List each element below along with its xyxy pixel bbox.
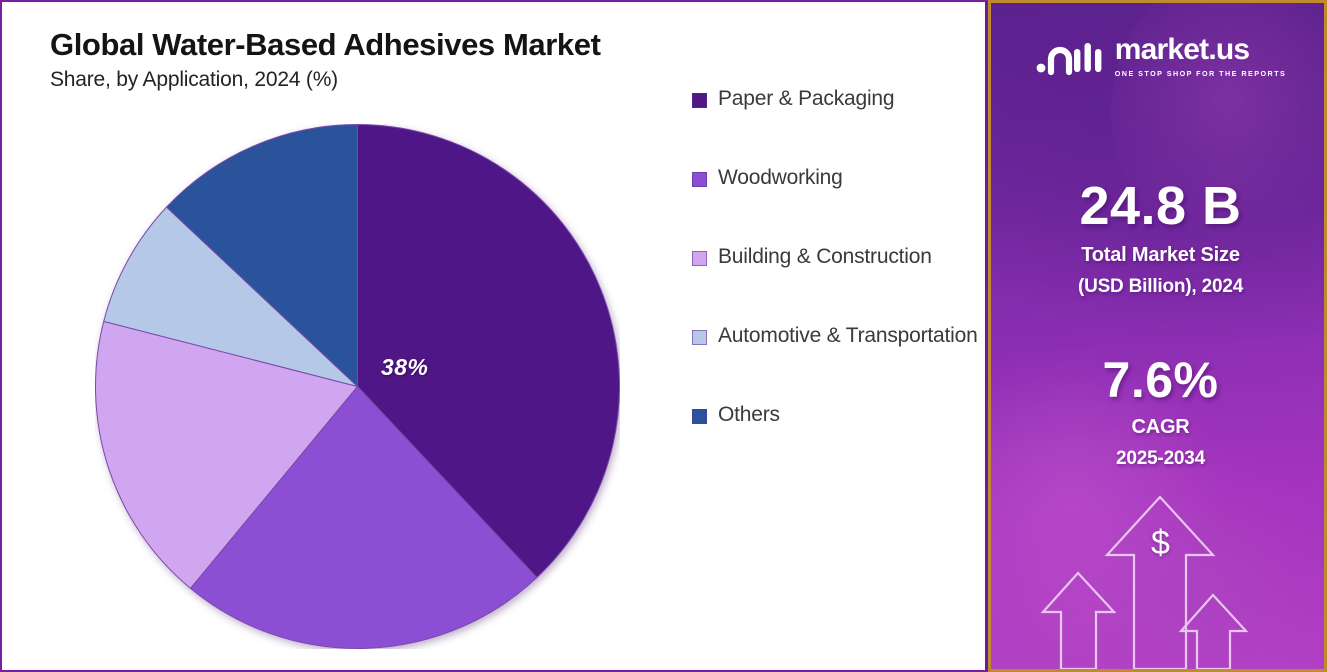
- pie-slices-group: [95, 125, 619, 649]
- pie-chart: 38%: [95, 124, 620, 649]
- brand-tagline: ONE STOP SHOP FOR THE REPORTS: [1115, 69, 1286, 78]
- legend-item-label: Paper & Packaging: [718, 86, 894, 113]
- stat-value: 24.8 B: [991, 179, 1327, 233]
- stat-cagr: 7.6% CAGR 2025-2034: [991, 355, 1327, 471]
- stat-total-market-size: 24.8 B Total Market Size (USD Billion), …: [991, 179, 1327, 299]
- chart-panel: Global Water-Based Adhesives Market Shar…: [0, 0, 988, 672]
- infographic-root: Global Water-Based Adhesives Market Shar…: [0, 0, 1327, 672]
- brand-name: market.us: [1115, 35, 1250, 65]
- legend-swatch-icon: [692, 409, 707, 424]
- growth-arrows-icon: [991, 489, 1327, 669]
- brand-logo[interactable]: market.us ONE STOP SHOP FOR THE REPORTS: [991, 33, 1327, 79]
- summary-panel: market.us ONE STOP SHOP FOR THE REPORTS …: [988, 0, 1327, 672]
- chart-legend: Paper & Packaging Woodworking Building &…: [692, 86, 982, 480]
- stat-caption-line2: (USD Billion), 2024: [991, 275, 1327, 298]
- legend-item-label: Automotive & Transportation: [718, 323, 978, 350]
- dollar-sign-icon: $: [991, 524, 1327, 563]
- brand-text: market.us ONE STOP SHOP FOR THE REPORTS: [1115, 35, 1286, 78]
- legend-item-paper-packaging[interactable]: Paper & Packaging: [692, 86, 982, 113]
- title-block: Global Water-Based Adhesives Market Shar…: [50, 28, 690, 92]
- legend-item-label: Woodworking: [718, 165, 843, 192]
- legend-swatch-icon: [692, 330, 707, 345]
- stat-caption-line1: CAGR: [991, 415, 1327, 439]
- legend-swatch-icon: [692, 93, 707, 108]
- legend-item-woodworking[interactable]: Woodworking: [692, 165, 982, 192]
- legend-item-label: Others: [718, 402, 780, 429]
- pie-chart-svg: [95, 124, 620, 649]
- page-subtitle: Share, by Application, 2024 (%): [50, 68, 690, 92]
- legend-item-label: Building & Construction: [718, 244, 932, 271]
- legend-item-others[interactable]: Others: [692, 402, 982, 429]
- legend-item-building-construction[interactable]: Building & Construction: [692, 244, 982, 271]
- stat-caption-line2: 2025-2034: [991, 447, 1327, 470]
- market-us-logo-icon: [1035, 33, 1105, 79]
- stat-caption-line1: Total Market Size: [991, 243, 1327, 267]
- legend-swatch-icon: [692, 251, 707, 266]
- page-title: Global Water-Based Adhesives Market: [50, 28, 690, 63]
- legend-item-automotive-transportation[interactable]: Automotive & Transportation: [692, 323, 982, 350]
- stat-value: 7.6%: [991, 355, 1327, 405]
- background-blob: [1081, 473, 1311, 672]
- legend-swatch-icon: [692, 172, 707, 187]
